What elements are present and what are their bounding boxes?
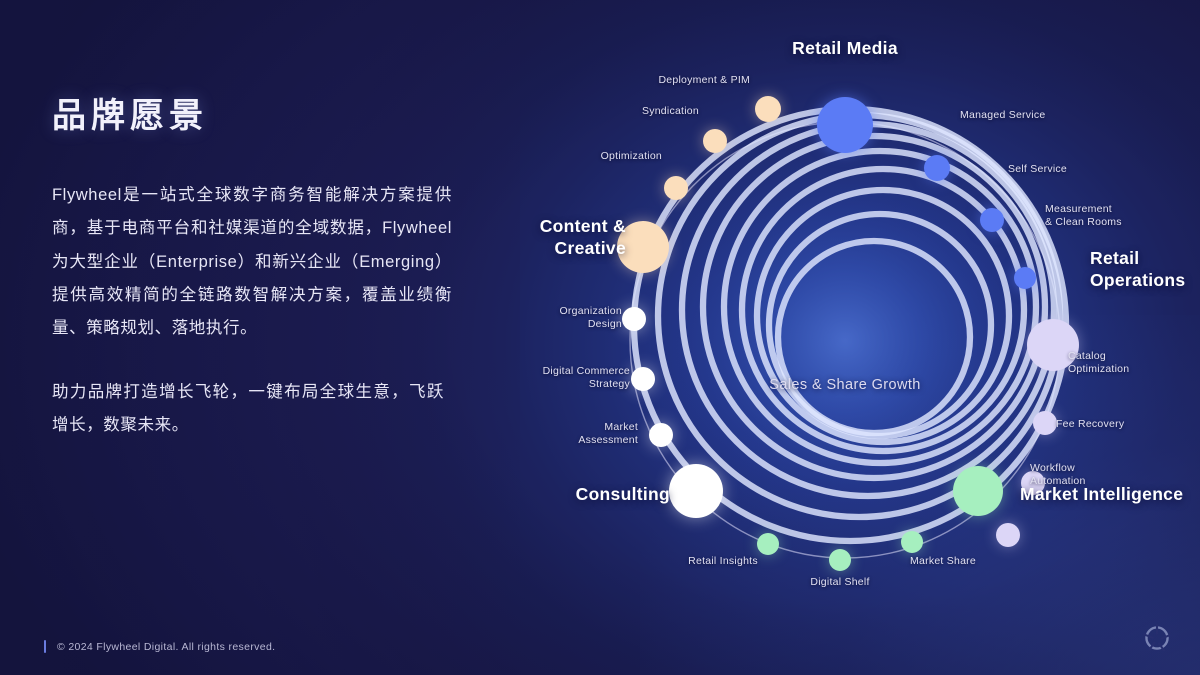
footer-accent-bar: [44, 640, 46, 653]
node-self-service[interactable]: [980, 208, 1004, 232]
label-market-assessment: Market Assessment: [520, 421, 638, 448]
footer-copyright: © 2024 Flywheel Digital. All rights rese…: [57, 641, 275, 653]
footer: © 2024 Flywheel Digital. All rights rese…: [44, 640, 275, 653]
node-digital-commerce-strategy[interactable]: [631, 367, 655, 391]
brand-vision-text-column: 品牌愿景 Flywheel是一站式全球数字商务智能解决方案提供商，基于电商平台和…: [52, 88, 452, 442]
node-workflow-automation[interactable]: [996, 523, 1020, 547]
label-deployment-pim: Deployment & PIM: [652, 74, 750, 87]
node-digital-shelf[interactable]: [829, 549, 851, 571]
brand-vision-paragraph-1: Flywheel是一站式全球数字商务智能解决方案提供商，基于电商平台和社媒渠道的…: [52, 179, 452, 346]
node-deployment-pim[interactable]: [755, 96, 781, 122]
label-measurement-clean-rooms: Measurement & Clean Rooms: [1045, 203, 1122, 230]
node-retail-media[interactable]: [817, 97, 873, 153]
node-measurement-clean-rooms[interactable]: [1014, 267, 1036, 289]
node-retail-insights[interactable]: [757, 533, 779, 555]
label-digital-shelf: Digital Shelf: [810, 576, 869, 589]
category-label-market-intelligence: Market Intelligence: [1020, 483, 1183, 505]
label-market-share: Market Share: [910, 555, 976, 568]
label-digital-commerce-strategy: Digital Commerce Strategy: [506, 365, 630, 392]
category-label-retail-media: Retail Media: [792, 37, 898, 59]
page-title: 品牌愿景: [52, 88, 452, 137]
node-market-assessment[interactable]: [649, 423, 673, 447]
label-organization-design: Organization Design: [512, 305, 622, 332]
center-caption: Sales & Share Growth: [769, 377, 920, 393]
category-label-content-creative: Content & Creative: [508, 215, 626, 259]
label-retail-insights: Retail Insights: [688, 555, 758, 568]
label-optimization: Optimization: [562, 150, 662, 163]
node-consulting[interactable]: [669, 464, 723, 518]
label-managed-service: Managed Service: [960, 109, 1045, 122]
node-organization-design[interactable]: [622, 307, 646, 331]
label-self-service: Self Service: [1008, 163, 1067, 176]
category-label-consulting: Consulting: [515, 483, 670, 505]
node-market-intelligence[interactable]: [953, 466, 1003, 516]
label-syndication: Syndication: [604, 105, 699, 118]
node-catalog-optimization[interactable]: [1033, 411, 1057, 435]
label-catalog-optimization: Catalog Optimization: [1068, 350, 1129, 377]
flywheel-mark-icon: [1140, 621, 1174, 655]
node-syndication[interactable]: [703, 129, 727, 153]
brand-vision-paragraph-2: 助力品牌打造增长飞轮，一键布局全球生意，飞跃增长，数聚未来。: [52, 376, 444, 443]
node-market-share[interactable]: [901, 531, 923, 553]
category-label-retail-operations: Retail Operations: [1090, 247, 1200, 291]
label-fee-recovery: Fee Recovery: [1056, 418, 1124, 431]
node-optimization[interactable]: [664, 176, 688, 200]
node-managed-service[interactable]: [924, 155, 950, 181]
flywheel-diagram: Sales & Share Growth Retail Media Manage…: [500, 25, 1200, 625]
